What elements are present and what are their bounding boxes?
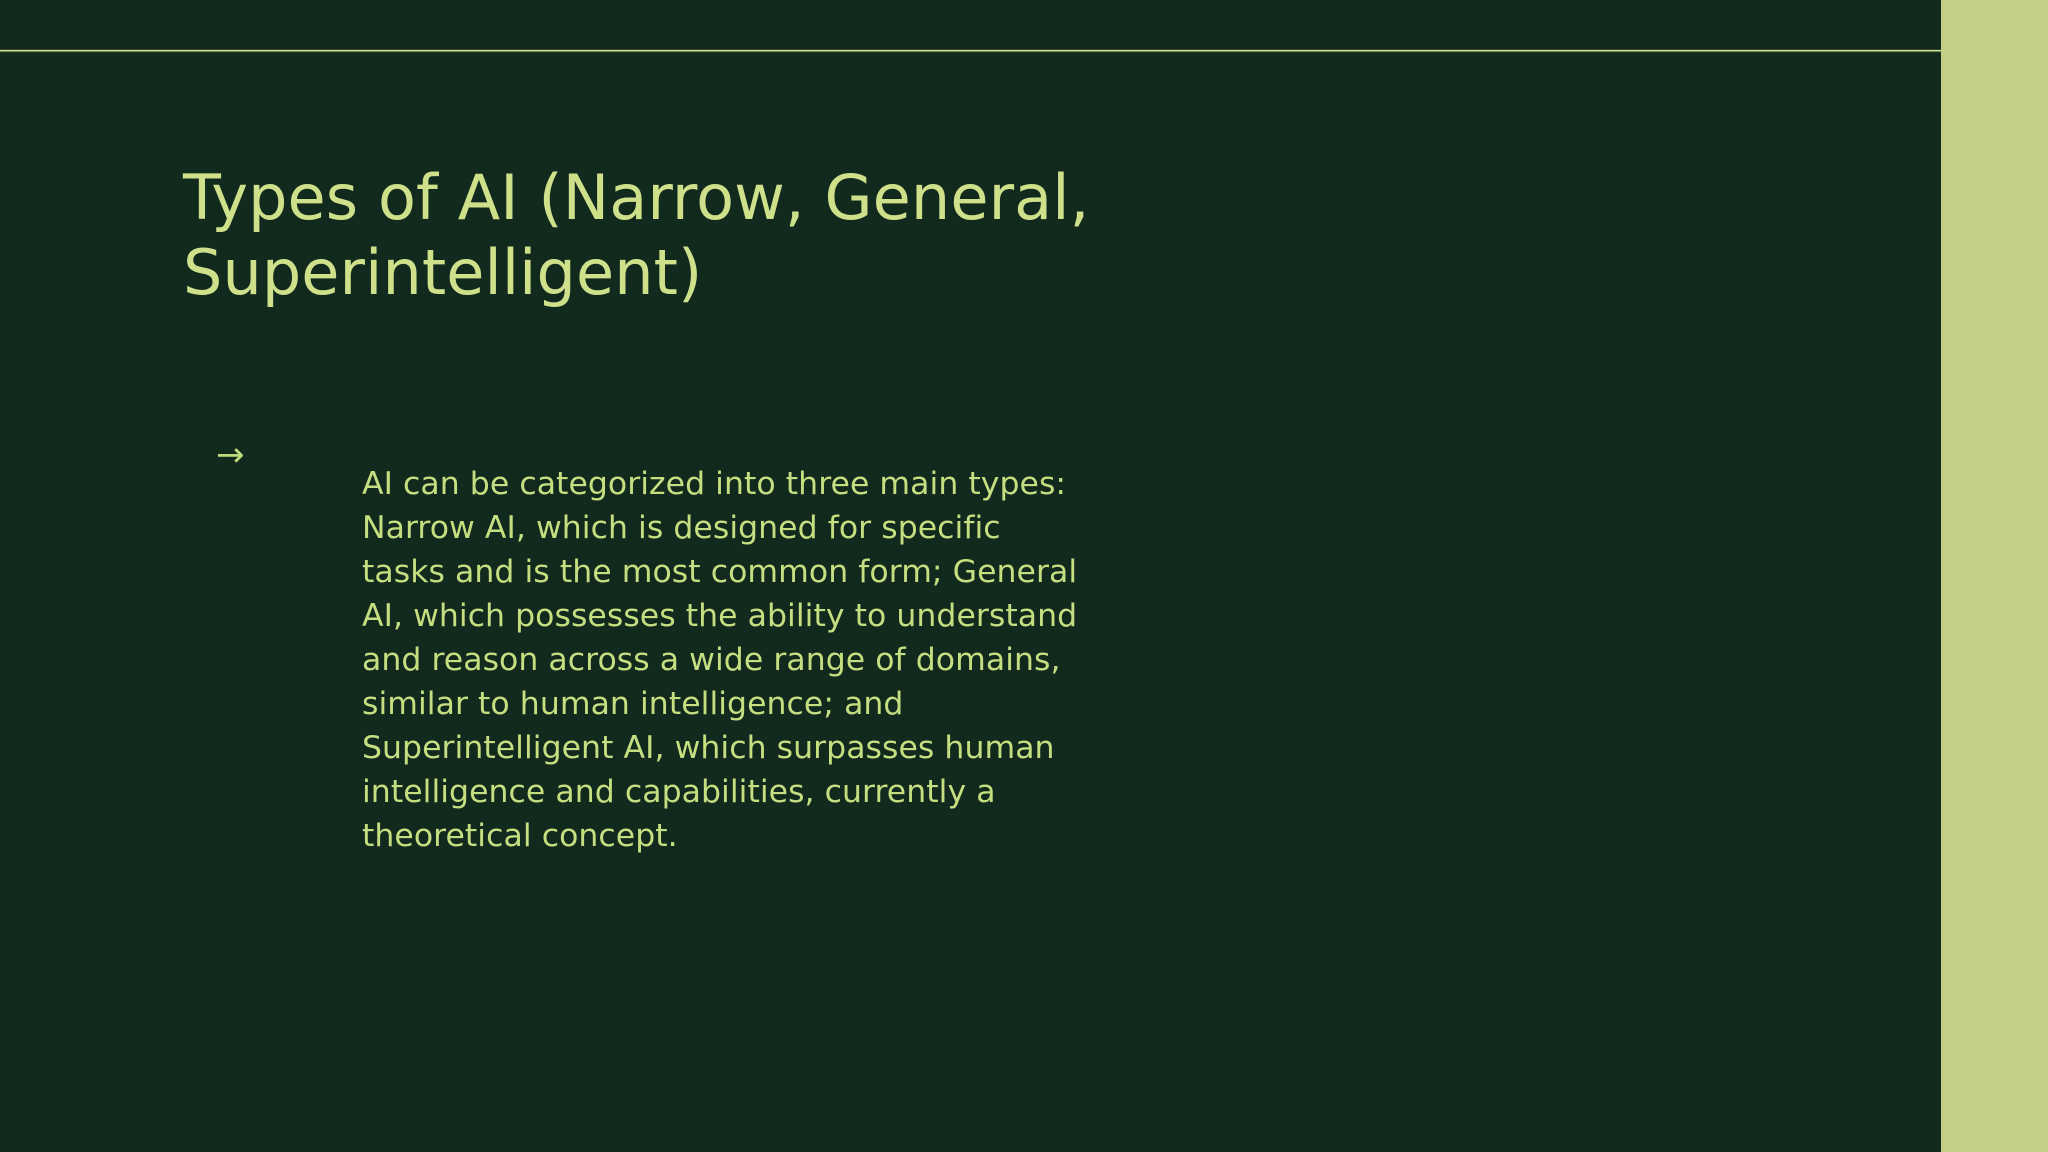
slide-title: Types of AI (Narrow, General, Superintel… [183,160,1303,311]
header-divider-rule [0,49,1941,53]
slide-body-text: AI can be categorized into three main ty… [362,462,1092,859]
right-accent-strip [1941,0,2048,1152]
arrow-right-bullet-icon: → [216,430,362,472]
slide-body-bullet: → AI can be categorized into three main … [216,430,1336,890]
presentation-slide: Types of AI (Narrow, General, Superintel… [0,0,2048,1152]
